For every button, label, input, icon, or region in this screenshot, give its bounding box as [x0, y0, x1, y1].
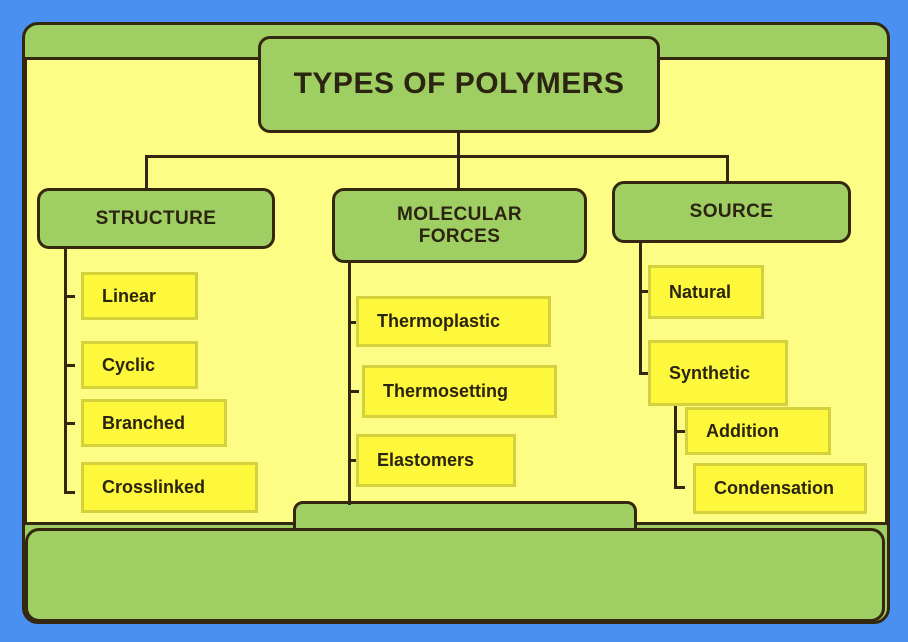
connector-drop-structure: [145, 155, 148, 188]
connector-tick-cyclic: [64, 364, 75, 367]
footer-box: [25, 528, 885, 622]
connector-tick-addition: [674, 430, 685, 433]
slide-canvas: TYPES OF POLYMERS STRUCTURE MOLECULAR FO…: [0, 0, 908, 642]
node-branch-structure[interactable]: STRUCTURE: [37, 188, 275, 249]
connector-tick-linear: [64, 295, 75, 298]
node-leaf-thermosetting[interactable]: Thermosetting: [362, 365, 557, 418]
node-leaf-condensation[interactable]: Condensation: [693, 463, 867, 514]
node-leaf-thermoplastic[interactable]: Thermoplastic: [356, 296, 551, 347]
connector-spine-molecular-forces: [348, 260, 351, 505]
node-branch-molecular-forces-label-line2: FORCES: [419, 226, 501, 248]
node-leaf-linear[interactable]: Linear: [81, 272, 198, 320]
node-branch-molecular-forces[interactable]: MOLECULAR FORCES: [332, 188, 587, 263]
connector-tick-condensation: [674, 486, 685, 489]
node-leaf-cyclic[interactable]: Cyclic: [81, 341, 198, 389]
node-leaf-addition-label: Addition: [706, 421, 779, 442]
node-leaf-thermoplastic-label: Thermoplastic: [377, 311, 500, 332]
node-leaf-thermosetting-label: Thermosetting: [383, 381, 508, 402]
node-leaf-natural-label: Natural: [669, 282, 731, 303]
connector-root-stem: [457, 132, 460, 156]
node-branch-source-label: SOURCE: [690, 201, 774, 223]
node-leaf-branched-label: Branched: [102, 413, 185, 434]
node-leaf-crosslinked-label: Crosslinked: [102, 477, 205, 498]
connector-tick-branched: [64, 422, 75, 425]
connector-drop-source: [726, 155, 729, 182]
connector-tick-crosslinked: [64, 491, 75, 494]
node-leaf-condensation-label: Condensation: [714, 478, 834, 499]
connector-bus: [145, 155, 729, 158]
node-leaf-synthetic-label: Synthetic: [669, 363, 750, 384]
node-leaf-addition[interactable]: Addition: [685, 407, 831, 455]
node-root-types-of-polymers[interactable]: TYPES OF POLYMERS: [258, 36, 660, 133]
node-leaf-synthetic[interactable]: Synthetic: [648, 340, 788, 406]
node-leaf-crosslinked[interactable]: Crosslinked: [81, 462, 258, 513]
connector-tick-thermosetting: [348, 390, 359, 393]
node-leaf-elastomers[interactable]: Elastomers: [356, 434, 516, 487]
node-branch-structure-label: STRUCTURE: [96, 208, 217, 230]
node-leaf-branched[interactable]: Branched: [81, 399, 227, 447]
connector-spine-source: [639, 243, 642, 375]
node-root-label: TYPES OF POLYMERS: [294, 67, 625, 102]
node-branch-source[interactable]: SOURCE: [612, 181, 851, 243]
node-branch-molecular-forces-label-line1: MOLECULAR: [397, 204, 522, 226]
connector-spine-structure: [64, 246, 67, 494]
node-leaf-linear-label: Linear: [102, 286, 156, 307]
node-leaf-elastomers-label: Elastomers: [377, 450, 474, 471]
connector-spine-synthetic: [674, 403, 677, 489]
node-leaf-natural[interactable]: Natural: [648, 265, 764, 319]
node-leaf-cyclic-label: Cyclic: [102, 355, 155, 376]
connector-drop-molecular-forces: [457, 155, 460, 188]
